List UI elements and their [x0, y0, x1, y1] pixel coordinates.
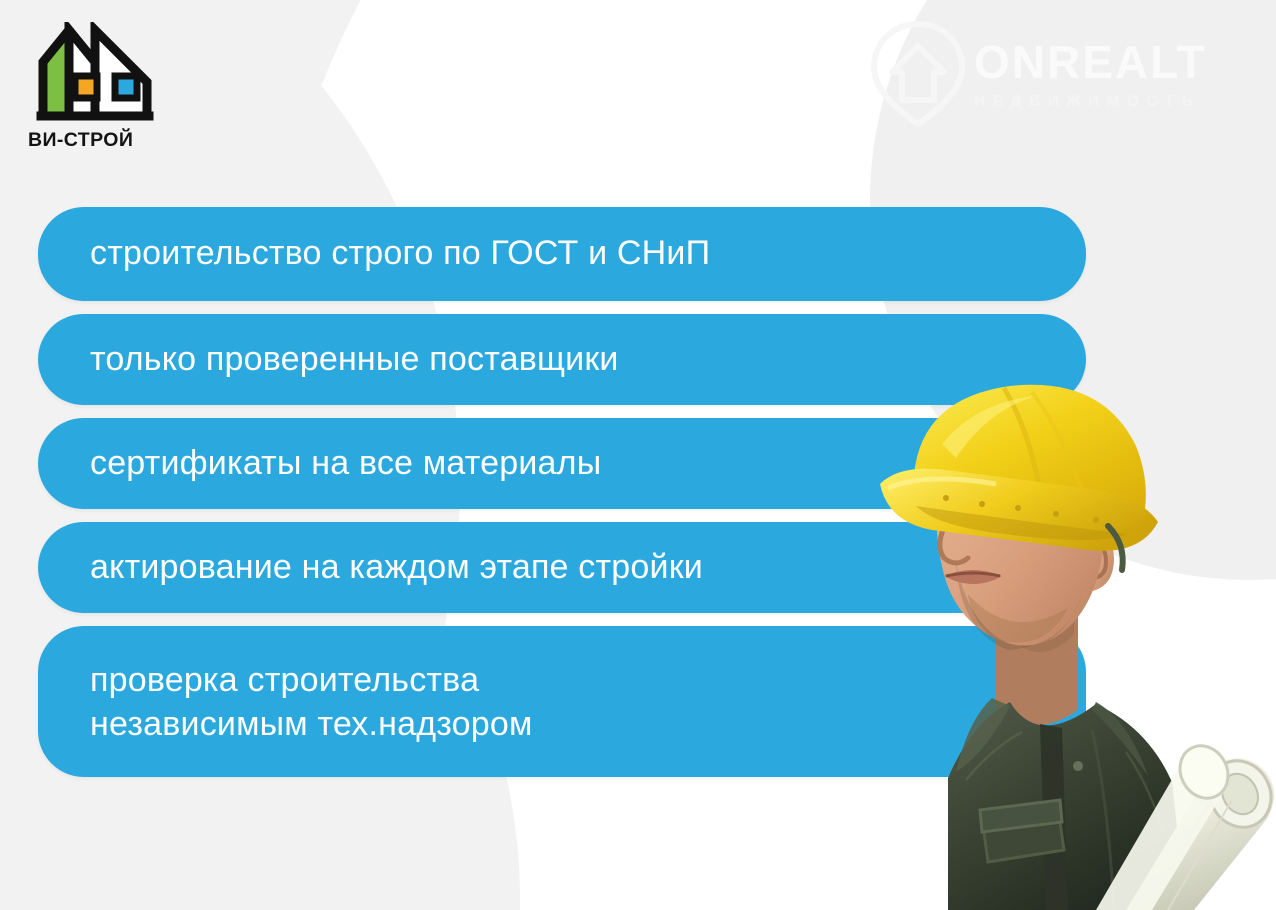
claim-bar-stage-acts[interactable]: актирование на каждом этапе стройки [38, 522, 1086, 613]
company-name: ВИ-СТРОЙ [28, 131, 172, 151]
claims-list: строительство строго по ГОСТ и СНиП толь… [38, 207, 1086, 790]
claim-bar-gost-snip[interactable]: строительство строго по ГОСТ и СНиП [38, 207, 1086, 301]
two-houses-icon [35, 22, 160, 126]
claim-bar-tech-oversight[interactable]: проверка строительства независимым тех.н… [38, 626, 1086, 777]
claim-bar-certificates[interactable]: сертификаты на все материалы [38, 418, 1086, 509]
poster-canvas: ONREALT НЕДВИЖИМОСТЬ [0, 0, 1276, 910]
claim-text: проверка строительства независимым тех.н… [90, 657, 533, 746]
claim-text: только проверенные поставщики [90, 338, 619, 382]
claim-text: сертификаты на все материалы [90, 442, 601, 486]
claim-bar-suppliers[interactable]: только проверенные поставщики [38, 314, 1086, 405]
company-logo[interactable]: ВИ-СТРОЙ [22, 22, 172, 154]
claim-text: строительство строго по ГОСТ и СНиП [90, 232, 710, 276]
claim-text: актирование на каждом этапе стройки [90, 546, 703, 590]
